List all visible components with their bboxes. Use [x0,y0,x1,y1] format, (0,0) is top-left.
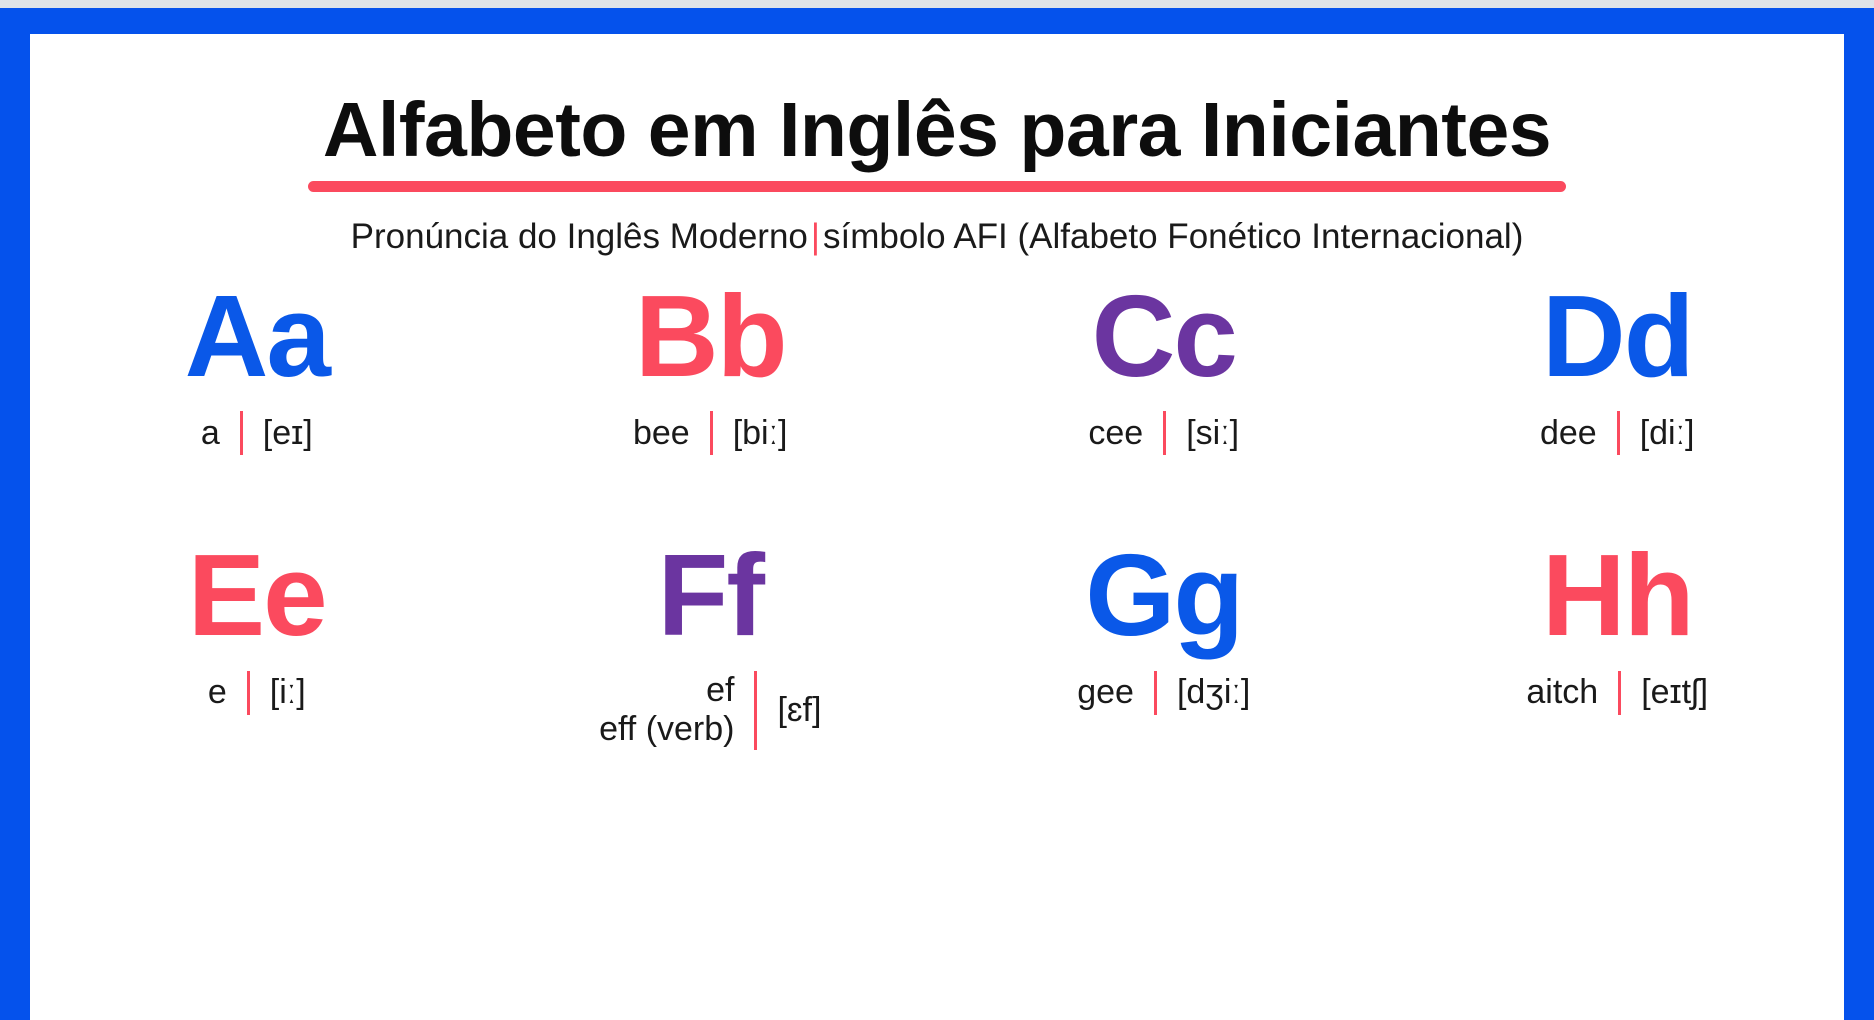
pronunciation-f: ef eff (verb) [ɛf] [599,671,821,750]
letter-ipa-a: [eɪ] [243,414,313,453]
letter-name-a: a [201,414,240,453]
slide-canvas: Alfabeto em Inglês para Iniciantes Pronú… [30,34,1844,1020]
pronunciation-h: aitch [eɪtʃ] [1526,671,1708,715]
letter-name-g: gee [1077,673,1154,712]
letter-ipa-d: [diː] [1620,414,1695,453]
page-title: Alfabeto em Inglês para Iniciantes [30,92,1844,169]
header: Alfabeto em Inglês para Iniciantes Pronú… [30,34,1844,260]
letter-name-c: cee [1088,414,1163,453]
letter-glyph-b: Bb [635,266,786,408]
letter-ipa-h: [eɪtʃ] [1621,673,1708,712]
letter-glyph-f: Ff [658,525,764,667]
pronunciation-g: gee [dʒiː] [1077,671,1250,715]
letter-ipa-g: [dʒiː] [1157,673,1250,712]
letter-card-c: Cc cee [siː] [937,266,1391,456]
letter-grid-row-2: Ee e [iː] Ff ef eff (verb) [ɛf] [30,461,1844,749]
letter-grid-row-1: Aa a [eɪ] Bb bee [biː] C [30,266,1844,456]
title-underline-rule [308,181,1566,192]
letter-card-a: Aa a [eɪ] [30,266,484,456]
letter-name-e: e [208,673,247,712]
pronunciation-d: dee [diː] [1540,411,1695,455]
letter-name-f: ef eff (verb) [599,671,754,750]
slide-root: Alfabeto em Inglês para Iniciantes Pronú… [0,0,1874,1020]
top-edge-strip [0,0,1874,8]
letter-card-e: Ee e [iː] [30,525,484,749]
pronunciation-b: bee [biː] [633,411,788,455]
letter-ipa-b: [biː] [713,414,788,453]
letter-card-h: Hh aitch [eɪtʃ] [1391,525,1845,749]
letter-card-d: Dd dee [diː] [1391,266,1845,456]
subtitle-right-text: símbolo AFI (Alfabeto Fonético Internaci… [823,217,1523,256]
subtitle-left-text: Pronúncia do Inglês Moderno [351,217,808,256]
letter-glyph-a: Aa [185,266,329,408]
letter-name-d: dee [1540,414,1617,453]
letter-glyph-c: Cc [1092,266,1236,408]
letter-card-f: Ff ef eff (verb) [ɛf] [484,525,938,749]
letter-name-b: bee [633,414,710,453]
pronunciation-e: e [iː] [208,671,306,715]
letter-name-h: aitch [1526,673,1618,712]
letter-ipa-e: [iː] [250,673,306,712]
pronunciation-c: cee [siː] [1088,411,1239,455]
letter-ipa-f: [ɛf] [757,691,821,730]
letter-glyph-d: Dd [1542,266,1693,408]
blue-border-frame: Alfabeto em Inglês para Iniciantes Pronú… [0,8,1874,1020]
letter-glyph-e: Ee [188,525,326,667]
letter-card-b: Bb bee [biː] [484,266,938,456]
letter-glyph-g: Gg [1085,525,1242,667]
subtitle-separator: | [808,217,823,256]
letter-ipa-c: [siː] [1166,414,1239,453]
pronunciation-a: a [eɪ] [201,411,313,455]
page-subtitle: Pronúncia do Inglês Moderno|símbolo AFI … [342,215,1532,260]
letter-glyph-h: Hh [1542,525,1693,667]
letter-card-g: Gg gee [dʒiː] [937,525,1391,749]
